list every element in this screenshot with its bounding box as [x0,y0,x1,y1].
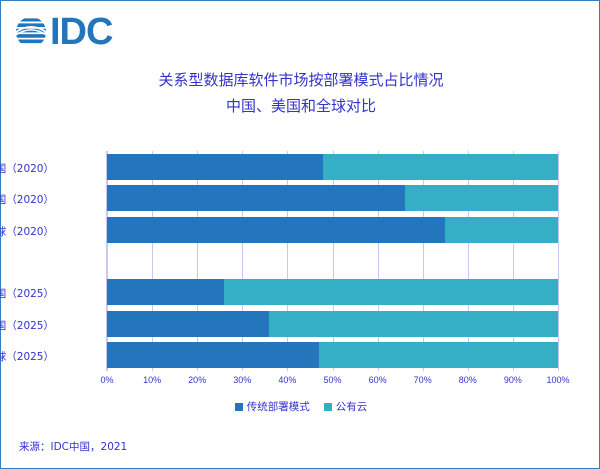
x-axis-tick-label: 10% [143,375,161,385]
bar-row[interactable] [107,185,558,211]
bar-segment-traditional[interactable] [107,311,269,337]
chart-title: 关系型数据库软件市场按部署模式占比情况 中国、美国和全球对比 [1,67,600,119]
bar-row[interactable] [107,342,558,368]
bar-segment-traditional[interactable] [107,154,323,180]
x-axis-tick-label: 20% [188,375,206,385]
x-axis-tick-label: 80% [459,375,477,385]
bar-segment-public-cloud[interactable] [269,311,558,337]
bar-segment-public-cloud[interactable] [323,154,558,180]
bar-segment-traditional[interactable] [107,185,405,211]
x-axis-tick-label: 100% [546,375,569,385]
gridline [107,151,108,371]
source-note: 来源：IDC中国，2021 [19,439,127,454]
bar-row[interactable] [107,311,558,337]
slide-canvas: IDC 关系型数据库软件市场按部署模式占比情况 中国、美国和全球对比 0%10%… [0,0,600,469]
idc-logo-text: IDC [50,14,112,50]
bar-segment-public-cloud[interactable] [224,279,558,305]
y-axis-category-label: 全球（2020） [0,224,54,239]
x-axis-tick-label: 90% [504,375,522,385]
x-axis-tick-label: 30% [233,375,251,385]
legend-swatch-icon [324,403,332,411]
chart-title-line-1: 关系型数据库软件市场按部署模式占比情况 [1,67,600,93]
gridline [558,151,559,371]
y-axis-category-label: 中国（2025） [0,286,54,301]
globe-icon [13,14,49,50]
chart-legend: 传统部署模式公有云 [1,399,600,414]
gridline [333,151,334,371]
gridline [468,151,469,371]
x-axis-tick-label: 50% [323,375,341,385]
gridline [197,151,198,371]
bar-segment-public-cloud[interactable] [445,217,558,243]
bar-segment-traditional[interactable] [107,342,319,368]
bar-row[interactable] [107,279,558,305]
bar-segment-public-cloud[interactable] [405,185,558,211]
gridline [242,151,243,371]
y-axis-category-label: 美国（2020） [0,192,54,207]
y-axis-category-label: 全球（2025） [0,349,54,364]
legend-item[interactable]: 公有云 [324,399,368,414]
bar-row[interactable] [107,217,558,243]
legend-item[interactable]: 传统部署模式 [235,399,310,414]
gridline [152,151,153,371]
x-axis-tick-label: 70% [414,375,432,385]
legend-item-label: 传统部署模式 [247,399,310,414]
gridline [513,151,514,371]
legend-swatch-icon [235,403,243,411]
stacked-bar-chart: 0%10%20%30%40%50%60%70%80%90%100%中国（2020… [1,133,600,393]
bar-segment-traditional[interactable] [107,217,445,243]
gridline [378,151,379,371]
x-axis-tick-label: 40% [278,375,296,385]
x-axis-tick-label: 0% [100,375,113,385]
bar-segment-public-cloud[interactable] [319,342,558,368]
bar-segment-traditional[interactable] [107,279,224,305]
y-axis-category-label: 美国（2025） [0,318,54,333]
y-axis-category-label: 中国（2020） [0,161,54,176]
idc-logo: IDC [13,11,112,53]
chart-title-line-2: 中国、美国和全球对比 [1,93,600,119]
gridline [287,151,288,371]
bar-row[interactable] [107,154,558,180]
gridline [423,151,424,371]
x-axis-tick-label: 60% [369,375,387,385]
plot-area: 0%10%20%30%40%50%60%70%80%90%100%中国（2020… [106,151,558,371]
legend-item-label: 公有云 [336,399,368,414]
